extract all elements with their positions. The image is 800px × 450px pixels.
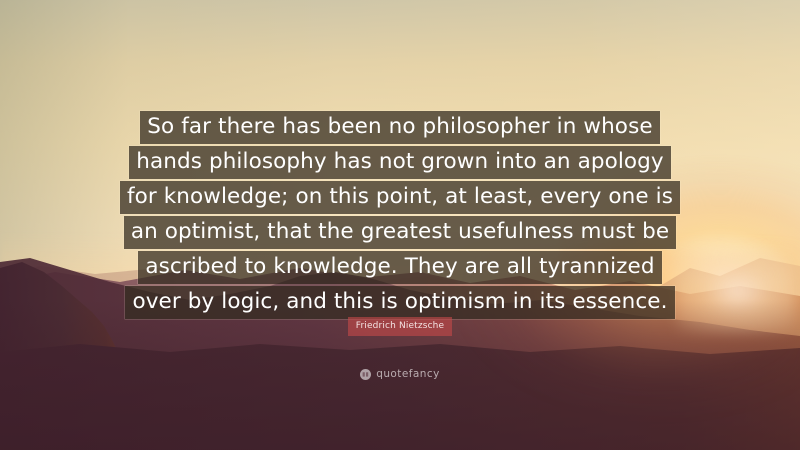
quote-line: hands philosophy has not grown into an a… xyxy=(129,146,671,179)
quote-poster: So far there has been no philosopher in … xyxy=(0,0,800,450)
quote-line: ascribed to knowledge. They are all tyra… xyxy=(138,251,661,284)
quote-text: So far there has been no philosopher in … xyxy=(0,111,800,321)
watermark: quotefancy xyxy=(0,368,800,380)
watermark-brand: quotefancy xyxy=(376,368,440,380)
quote-mark-icon xyxy=(360,369,371,380)
author-attribution: Friedrich Nietzsche xyxy=(0,315,800,336)
quote-line: an optimist, that the greatest usefulnes… xyxy=(124,216,676,249)
quote-line: So far there has been no philosopher in … xyxy=(140,111,659,144)
quote-line: for knowledge; on this point, at least, … xyxy=(120,181,680,214)
author-name: Friedrich Nietzsche xyxy=(348,317,452,336)
